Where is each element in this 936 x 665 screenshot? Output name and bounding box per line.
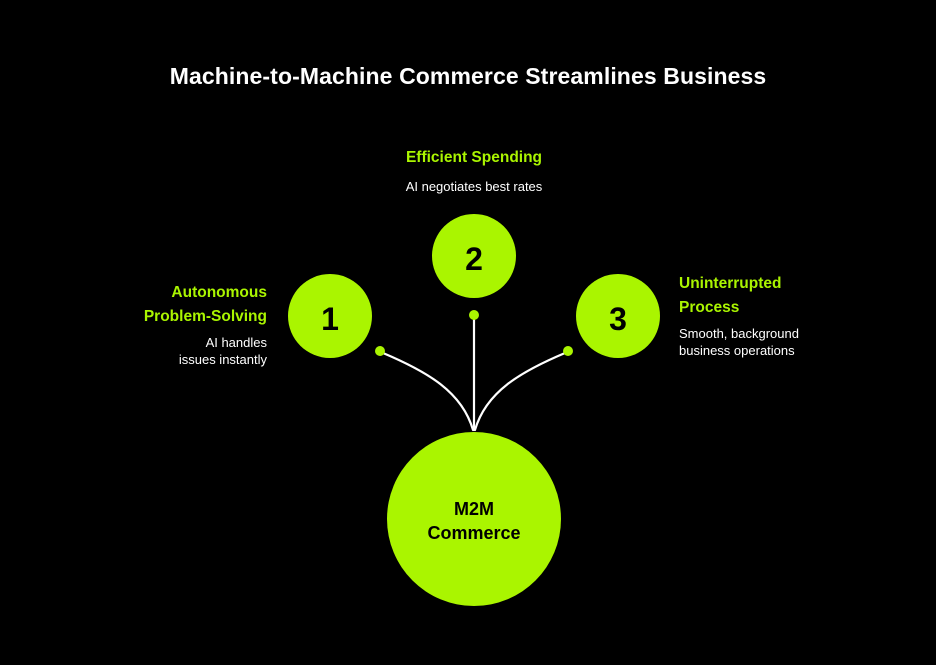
node-heading-2: Efficient Spending [336,146,612,170]
node-label-3: Uninterrupted Process Smooth, background… [679,272,889,359]
node-heading-1: Autonomous Problem-Solving [67,281,267,329]
node-number-2: 2 [465,243,483,275]
node-circle-1[interactable]: 1 [288,274,372,358]
node-heading-3: Uninterrupted Process [679,272,889,320]
node-label-2: Efficient Spending AI negotiates best ra… [336,146,612,195]
connector-dot-2 [469,310,479,320]
diagram-canvas: Machine-to-Machine Commerce Streamlines … [0,0,936,665]
connector-line-1 [383,353,473,430]
node-description-2: AI negotiates best rates [336,178,612,195]
hub-circle[interactable]: M2M Commerce [387,432,561,606]
connector-line-3 [475,353,565,430]
node-circle-2[interactable]: 2 [432,214,516,298]
connector-dot-3 [563,346,573,356]
hub-label: M2M Commerce [427,497,520,545]
node-description-3: Smooth, background business operations [679,325,889,359]
page-title: Machine-to-Machine Commerce Streamlines … [0,61,936,91]
connector-dot-1 [375,346,385,356]
node-number-1: 1 [321,303,339,335]
node-description-1: AI handles issues instantly [67,334,267,368]
node-circle-3[interactable]: 3 [576,274,660,358]
node-label-1: Autonomous Problem-Solving AI handles is… [67,281,267,368]
node-number-3: 3 [609,303,627,335]
